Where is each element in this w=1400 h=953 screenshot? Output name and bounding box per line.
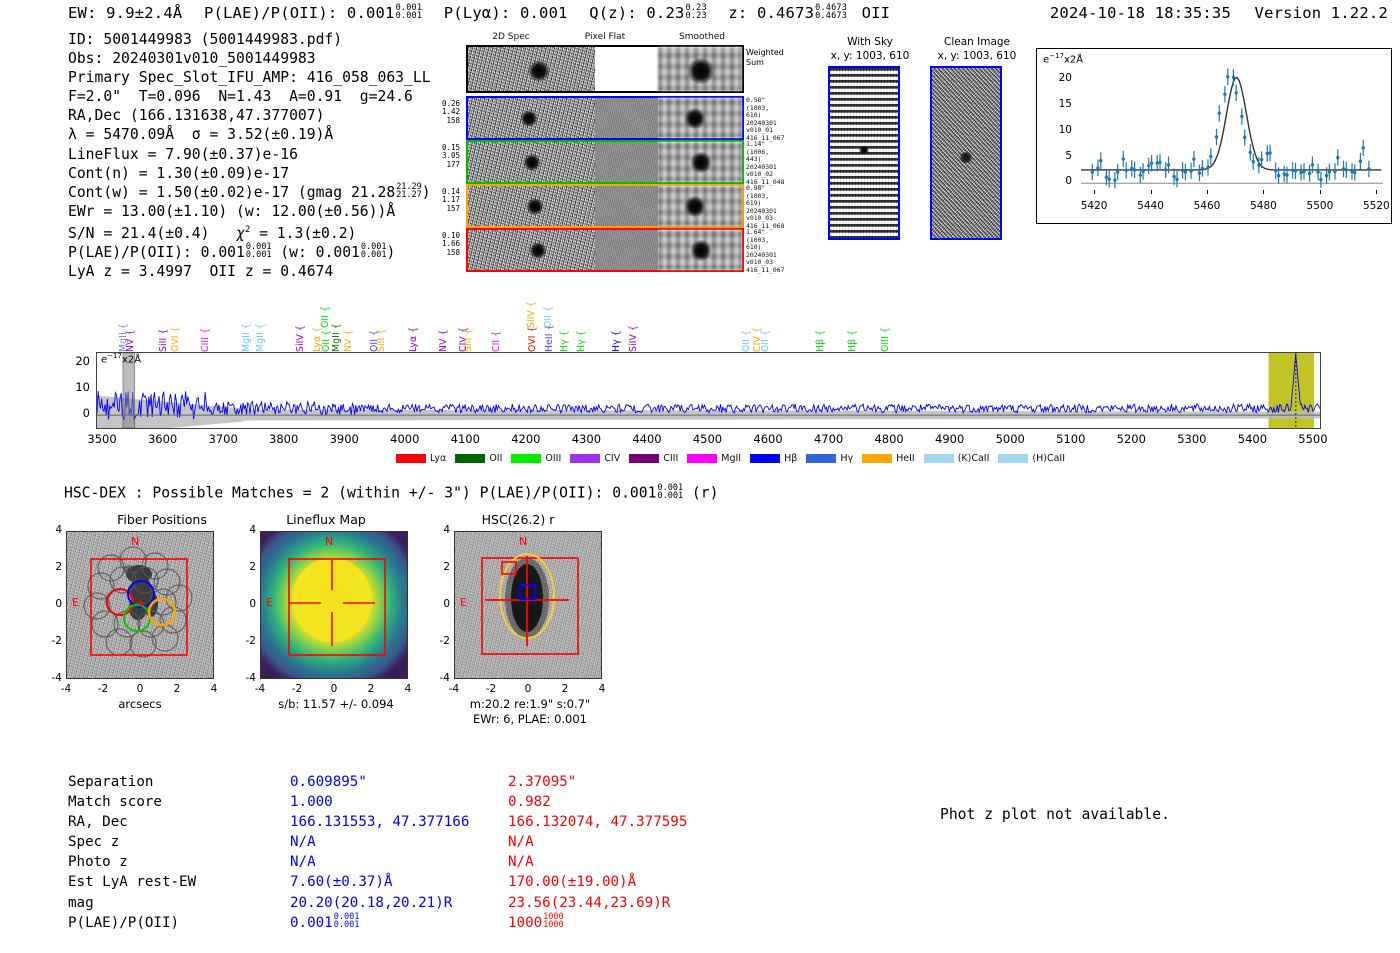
- spec2d-panel: 2D Spec Pixel Flat Smoothed Weighted Sum…: [420, 32, 765, 252]
- panel-ytick: 0: [42, 598, 62, 610]
- emission-line-label: SiII {: [377, 308, 386, 352]
- bigspec-xtick: 5200: [1109, 432, 1153, 446]
- bigspec-xtick: 3700: [201, 432, 245, 446]
- bigspec-xtick: 5500: [1291, 432, 1335, 446]
- bigspec-ytick: 10: [62, 380, 90, 394]
- photz-note: Phot z plot not available.: [940, 806, 1170, 823]
- cutout-coords-clean: x, y: 1003, 610: [922, 50, 1032, 62]
- table-cell-match1: 20.20(20.18,20.21)R: [290, 893, 452, 913]
- panel-title-lineflux-map: Lineflux Map: [236, 512, 416, 527]
- emission-line-label: MgII {: [332, 308, 341, 352]
- bigspec-xtick: 4900: [928, 432, 972, 446]
- emission-line-label: OII {: [321, 282, 330, 328]
- compass-e-panel1: E: [72, 596, 79, 609]
- emission-line-label: CII {: [492, 308, 501, 352]
- emission-line-label: NV {: [439, 308, 448, 352]
- legend-label: Hβ: [784, 453, 797, 464]
- table-row-label: Match score: [68, 792, 278, 812]
- panel-ytick: 2: [430, 561, 450, 573]
- header-ew: EW: 9.9±2.4Å: [68, 4, 182, 22]
- legend-label: CIV: [604, 453, 620, 464]
- cutout-image-withsky: [828, 66, 900, 240]
- emission-line-label: Lyα {: [409, 308, 418, 352]
- compass-e-panel2: E: [266, 596, 273, 609]
- legend-swatch: [998, 454, 1028, 463]
- table-plae-range2: 10001000: [543, 913, 563, 929]
- info-snr: S/N = 21.4(±0.4) χ2 = 1.3(±0.2): [68, 221, 431, 243]
- hsc-r-image: N E: [454, 531, 602, 679]
- info-wavelength: λ = 5470.09Å σ = 3.52(±0.19)Å: [68, 125, 431, 144]
- panel3-caption2: EWr: 6, PLAE: 0.001: [436, 712, 624, 726]
- table-cell-match1: 0.0010.0010.001: [290, 913, 359, 933]
- legend-swatch: [806, 454, 836, 463]
- emission-line-zoom-plot: e−17x2Å: [1036, 48, 1392, 224]
- hsc-header-text: HSC-DEX : Possible Matches = 2 (within +…: [64, 485, 656, 502]
- bigspec-xtick: 4500: [686, 432, 730, 446]
- hsc-plae-range: 0.0010.001: [657, 484, 683, 500]
- panel-ytick: 4: [236, 524, 256, 536]
- header-z: z: 0.4673: [728, 4, 814, 22]
- fiber-row: [466, 96, 744, 140]
- panel-xtick: 0: [516, 683, 540, 695]
- compass-e-panel3: E: [460, 596, 467, 609]
- emission-line-label: Hγ {: [560, 308, 569, 352]
- fiber-row-right-labels: 1.14"(1006, 443)20240301v010_02416_11_04…: [746, 141, 784, 187]
- panel-xtick: -2: [285, 683, 309, 695]
- info-ewr: EWr = 13.00(±1.10) (w: 12.00(±0.56))Å: [68, 202, 431, 221]
- header-datetime: 2024-10-18 18:35:35: [1050, 4, 1231, 22]
- header-qz: Q(z): 0.23: [589, 4, 684, 22]
- bigspec-xtick: 4200: [504, 432, 548, 446]
- legend-label: (H)CaII: [1032, 453, 1065, 464]
- legend-item: HeII: [862, 453, 915, 464]
- emission-line-legend: LyαOIIOIIICIVCIIIMgIIHβHγHeII(K)CaII(H)C…: [396, 452, 1074, 464]
- legend-item: CIII: [629, 453, 678, 464]
- table-cell-match2: 23.56(23.44,23.69)R: [508, 893, 670, 913]
- legend-swatch: [687, 454, 717, 463]
- info-obs: Obs: 20240301v010_5001449983: [68, 49, 431, 68]
- fiber-row: [466, 184, 744, 228]
- table-cell-match1: N/A: [290, 832, 316, 852]
- legend-label: CIII: [663, 453, 678, 464]
- legend-item: Lyα: [396, 453, 446, 464]
- panel-xtick: 4: [396, 683, 420, 695]
- panel-xtick: 0: [322, 683, 346, 695]
- emission-line-label: NV {: [126, 308, 135, 352]
- emission-line-label: SiIV {: [629, 308, 638, 352]
- legend-item: Hγ: [806, 453, 853, 464]
- weighted-sum-label: Weighted Sum: [746, 48, 784, 68]
- header-plae-range: 0.0010.001: [396, 4, 423, 20]
- minispec-ytick: 5: [1044, 150, 1072, 162]
- panel-ytick: 2: [236, 561, 256, 573]
- info-plae: P(LAE)/P(OII): 0.0010.0010.001 (w: 0.001…: [68, 243, 431, 262]
- legend-label: MgII: [721, 453, 741, 464]
- minispec-xtick-mark: [1151, 190, 1152, 194]
- bigspec-xtick: 4600: [746, 432, 790, 446]
- panel-ytick: -4: [42, 672, 62, 684]
- emission-line-label: Hβ {: [816, 308, 825, 352]
- panel-xtick: -4: [442, 683, 466, 695]
- info-cont-w: Cont(w) = 1.50(±0.02)e-17 (gmag 21.2821.…: [68, 183, 431, 202]
- header-timestamp: 2024-10-18 18:35:35 Version 1.22.2: [1050, 4, 1388, 22]
- panel3-xlabel: m:20.2 re:1.9" s:0.7": [436, 697, 624, 711]
- fiber-row-right-labels: 0.98"(1003, 619)20240301v010_03416_11_06…: [746, 185, 784, 231]
- fiber-row-left-labels: 0.141.17157: [420, 188, 460, 213]
- panel-xtick: 4: [590, 683, 614, 695]
- emission-line-label: MgII {: [242, 308, 251, 352]
- legend-label: HeII: [896, 453, 915, 464]
- fiber-row: [466, 140, 744, 184]
- table-plae-range1: 0.0010.001: [334, 913, 360, 929]
- bigspec-units: e−17x2Å: [101, 352, 141, 365]
- table-cell-match2: 170.00(±19.00)Å: [508, 872, 636, 892]
- emission-line-label: SiIV {: [296, 308, 305, 352]
- panel-xtick: 4: [202, 683, 226, 695]
- legend-swatch: [455, 454, 485, 463]
- fiber-row-left-labels: 0.153.05177: [420, 144, 460, 169]
- fiber-row-right-labels: 0.58"(1003, 610)20240301v010_01416_11_06…: [746, 97, 784, 143]
- bigspec-xtick: 3800: [262, 432, 306, 446]
- bigspec-xtick: 3900: [322, 432, 366, 446]
- legend-swatch: [511, 454, 541, 463]
- minispec-xtick-mark: [1376, 190, 1377, 194]
- weighted-sum-row: [466, 45, 744, 93]
- legend-swatch: [924, 454, 954, 463]
- info-fwhm-line: F=2.0" T=0.096 N=1.43 A=0.91 g=24.6: [68, 87, 431, 106]
- panel-xtick: -4: [54, 683, 78, 695]
- panel-ytick: 0: [430, 598, 450, 610]
- info-plae-w-range: 0.0010.001: [361, 243, 387, 259]
- legend-item: CIV: [570, 453, 620, 464]
- hsc-header-filter: (r): [692, 485, 719, 502]
- table-row-label: RA, Dec: [68, 812, 278, 832]
- table-cell-match2: N/A: [508, 852, 534, 872]
- panel-ytick: -4: [236, 672, 256, 684]
- table-cell-match1: 7.60(±0.37)Å: [290, 872, 393, 892]
- legend-item: OIII: [511, 453, 561, 464]
- panel2-xlabel: s/b: 11.57 +/- 0.094: [242, 697, 430, 711]
- panel-ytick: 4: [42, 524, 62, 536]
- minispec-ytick: 20: [1044, 72, 1072, 84]
- table-cell-match1: 1.000: [290, 792, 333, 812]
- bigspec-ytick: 20: [62, 354, 90, 368]
- header-z-type: OII: [862, 4, 891, 22]
- panel-ytick: 0: [236, 598, 256, 610]
- emission-line-label: MgII {: [256, 308, 265, 352]
- table-row-label: Est LyA rest-EW: [68, 872, 278, 892]
- bigspec-xtick: 4100: [443, 432, 487, 446]
- minispec-xtick-mark: [1320, 190, 1321, 194]
- minispec-xtick: 5480: [1245, 200, 1281, 212]
- cutout-image-clean: [930, 66, 1002, 240]
- legend-swatch: [629, 454, 659, 463]
- table-cell-match2: 100010001000: [508, 913, 564, 933]
- minispec-xtick: 5420: [1076, 200, 1112, 212]
- emission-line-label: SiII {: [464, 308, 473, 352]
- table-cell-match1: N/A: [290, 852, 316, 872]
- bigspec-xtick: 5000: [988, 432, 1032, 446]
- table-cell-match2: 166.132074, 47.377595: [508, 812, 687, 832]
- emission-line-label: OIII {: [881, 308, 890, 352]
- minispec-xtick: 5500: [1302, 200, 1338, 212]
- minispec-ytick: 0: [1044, 175, 1072, 187]
- cutout-coords-withsky: x, y: 1003, 610: [820, 50, 920, 62]
- minispec-xtick: 5440: [1133, 200, 1169, 212]
- table-row-label: P(LAE)/P(OII): [68, 913, 278, 933]
- header-version: Version 1.22.2: [1255, 4, 1388, 22]
- header-qz-range: 0.230.23: [686, 4, 707, 20]
- info-gmag-range: 21.2921.27: [396, 183, 422, 199]
- emission-line-label: CIII {: [201, 308, 210, 352]
- col-title-2dspec: 2D Spec: [466, 32, 556, 42]
- full-spectrum-plot: e−17x2Å: [96, 352, 1321, 429]
- header-summary-line: EW: 9.9±2.4Å P(LAE)/P(OII): 0.0010.0010.…: [68, 4, 890, 22]
- panel-ytick: -2: [42, 635, 62, 647]
- panel1-xlabel: arcsecs: [64, 697, 216, 711]
- cutout-title-clean: Clean Image: [922, 36, 1032, 48]
- cutout-title-withsky: With Sky: [820, 36, 920, 48]
- info-primary-spec: Primary Spec_Slot_IFU_AMP: 416_058_063_L…: [68, 68, 431, 87]
- legend-item: (H)CaII: [998, 453, 1065, 464]
- panel-xtick: 0: [128, 683, 152, 695]
- emission-line-label: Hγ {: [577, 308, 586, 352]
- bigspec-xtick: 4400: [625, 432, 669, 446]
- emission-line-label: Hγ {: [612, 308, 621, 352]
- minispec-xtick: 5460: [1189, 200, 1225, 212]
- bigspec-xtick: 5100: [1049, 432, 1093, 446]
- panel-title-hsc-r: HSC(26.2) r: [428, 512, 608, 527]
- minispec-xtick: 5520: [1358, 200, 1394, 212]
- table-cell-match2: 0.982: [508, 792, 551, 812]
- table-row-label: mag: [68, 893, 278, 913]
- emission-line-label: Hβ {: [848, 308, 857, 352]
- bigspec-xtick: 4800: [867, 432, 911, 446]
- info-id: ID: 5001449983 (5001449983.pdf): [68, 30, 431, 49]
- panel-xtick: -2: [479, 683, 503, 695]
- legend-label: OII: [489, 453, 502, 464]
- legend-label: OIII: [545, 453, 561, 464]
- bigspec-xtick: 5400: [1230, 432, 1274, 446]
- col-title-pixelflat: Pixel Flat: [560, 32, 650, 42]
- table-cell-match2: 2.37095": [508, 772, 576, 792]
- info-plae-range: 0.0010.001: [246, 243, 272, 259]
- panel-ytick: 4: [430, 524, 450, 536]
- info-redshifts: LyA z = 3.4997 OII z = 0.4674: [68, 262, 431, 281]
- col-title-smoothed: Smoothed: [657, 32, 747, 42]
- panel-title-fiber-positions: Fiber Positions: [62, 512, 262, 527]
- minispec-xtick-mark: [1263, 190, 1264, 194]
- compass-n-panel3: N: [519, 535, 527, 548]
- panel-ytick: 2: [42, 561, 62, 573]
- panel-xtick: 2: [359, 683, 383, 695]
- compass-n-panel1: N: [131, 535, 139, 548]
- minispec-xtick-mark: [1094, 190, 1095, 194]
- minispec-ytick: 15: [1044, 98, 1072, 110]
- legend-swatch: [570, 454, 600, 463]
- legend-swatch: [750, 454, 780, 463]
- legend-label: Lyα: [430, 453, 446, 464]
- header-z-range: 0.46730.4673: [815, 4, 847, 20]
- legend-swatch: [862, 454, 892, 463]
- header-plya: P(Lyα): 0.001: [444, 4, 568, 22]
- emission-line-label: OII {: [742, 308, 751, 352]
- fiber-positions-image: N E: [66, 531, 214, 679]
- hsc-dex-header: HSC-DEX : Possible Matches = 2 (within +…: [64, 484, 718, 502]
- panel-xtick: 2: [165, 683, 189, 695]
- legend-item: MgII: [687, 453, 741, 464]
- legend-item: Hβ: [750, 453, 797, 464]
- info-lineflux: LineFlux = 7.90(±0.37)e-16: [68, 145, 431, 164]
- panel-xtick: -4: [248, 683, 272, 695]
- bigspec-xtick: 4700: [807, 432, 851, 446]
- minispec-xtick-mark: [1207, 190, 1208, 194]
- panel-ytick: -2: [430, 635, 450, 647]
- table-cell-match1: 166.131553, 47.377166: [290, 812, 469, 832]
- header-plae: P(LAE)/P(OII): 0.001: [204, 4, 395, 22]
- fiber-row: [466, 228, 744, 272]
- bigspec-xtick: 4000: [383, 432, 427, 446]
- legend-label: (K)CaII: [958, 453, 990, 464]
- info-radec: RA,Dec (166.131638,47.377007): [68, 106, 431, 125]
- emission-line-label: SiII {: [159, 308, 168, 352]
- panel-xtick: 2: [553, 683, 577, 695]
- info-cont-n: Cont(n) = 1.30(±0.09)e-17: [68, 164, 431, 183]
- minispec-ytick: 10: [1044, 124, 1072, 136]
- bigspec-xtick: 5300: [1170, 432, 1214, 446]
- table-row-label: Separation: [68, 772, 278, 792]
- legend-item: (K)CaII: [924, 453, 990, 464]
- bigspec-xtick: 3600: [141, 432, 185, 446]
- panel-ytick: -2: [236, 635, 256, 647]
- fiber-row-right-labels: 1.64"(1003, 610)20240301v010_03416_11_06…: [746, 229, 784, 275]
- source-info-block: ID: 5001449983 (5001449983.pdf) Obs: 202…: [68, 30, 431, 281]
- panel-xtick: -2: [91, 683, 115, 695]
- fiber-row-left-labels: 0.101.66158: [420, 232, 460, 257]
- emission-line-label: NV {: [344, 308, 353, 352]
- fiber-row-left-labels: 0.261.42158: [420, 100, 460, 125]
- emission-line-label: OVI {: [171, 308, 180, 352]
- table-cell-match1: 0.609895": [290, 772, 367, 792]
- table-row-label: Photo z: [68, 852, 278, 872]
- bigspec-ytick: 0: [62, 406, 90, 420]
- emission-line-label: OII {: [544, 282, 553, 328]
- legend-swatch: [396, 454, 426, 463]
- emission-line-label: SiIV {: [527, 282, 536, 328]
- bigspec-xtick: 4300: [564, 432, 608, 446]
- table-cell-match2: N/A: [508, 832, 534, 852]
- bigspec-xtick: 3500: [80, 432, 124, 446]
- lineflux-map-image: N E: [260, 531, 408, 679]
- legend-label: Hγ: [840, 453, 853, 464]
- legend-item: OII: [455, 453, 502, 464]
- emission-line-label: OII {: [761, 308, 770, 352]
- table-row-label: Spec z: [68, 832, 278, 852]
- panel-ytick: -4: [430, 672, 450, 684]
- compass-n-panel2: N: [325, 535, 333, 548]
